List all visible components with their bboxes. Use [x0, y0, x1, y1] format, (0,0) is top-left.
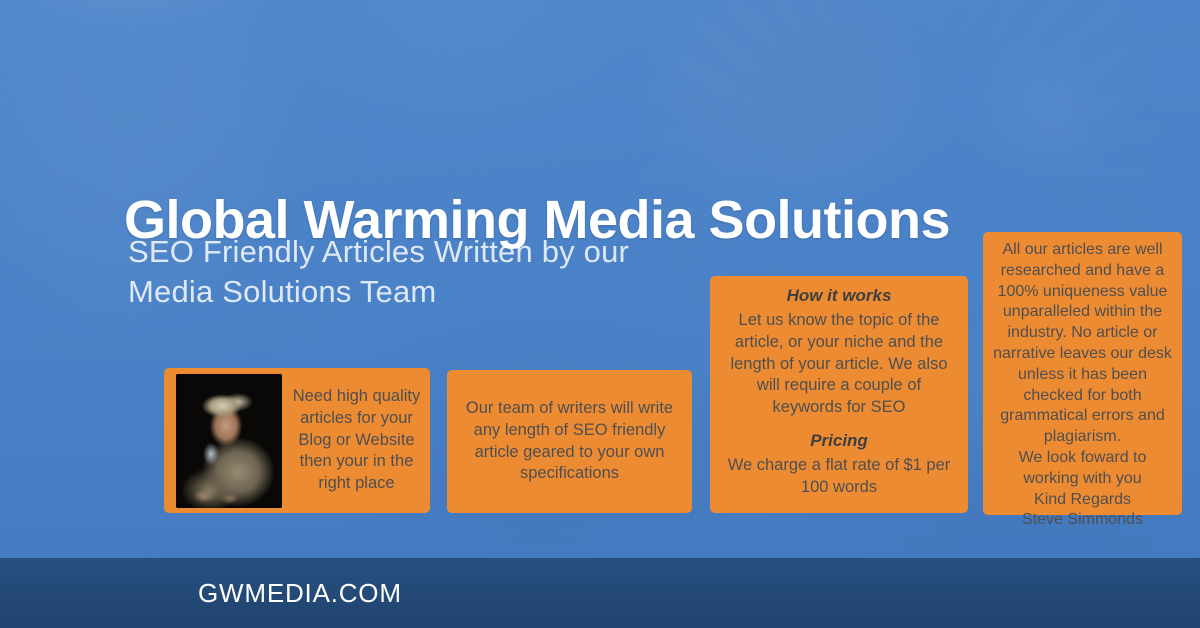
page-subtitle-line-1: SEO Friendly Articles Written by our	[128, 234, 629, 269]
card-quality-text-wrap: All our articles are well researched and…	[993, 240, 1172, 531]
how-it-works-block: How it works Let us know the topic of th…	[720, 286, 958, 419]
card-quality-closing-2: working with you	[993, 469, 1172, 490]
card-quality-signature: Steve Simmonds	[993, 510, 1172, 531]
how-it-works-body: Let us know the topic of the article, or…	[720, 310, 958, 419]
card-quality-statement: All our articles are well researched and…	[983, 232, 1182, 515]
how-it-works-heading: How it works	[720, 286, 958, 306]
page-subtitle-line-2: Media Solutions Team	[128, 272, 748, 312]
card-quality-closing-1: We look foward to	[993, 448, 1172, 469]
card-how-it-works: How it works Let us know the topic of th…	[710, 276, 968, 513]
page-subtitle: SEO Friendly Articles Written by our Med…	[128, 232, 748, 311]
portrait-photo	[176, 374, 282, 508]
pricing-block: Pricing We charge a flat rate of $1 per …	[720, 421, 958, 499]
footer-website-label: GWMEDIA.COM	[198, 578, 402, 609]
card-writers-text: Our team of writers will write any lengt…	[459, 398, 680, 485]
card-profile-text-wrap: Need high quality articles for your Blog…	[282, 386, 422, 495]
card-quality-closing-3: Kind Regards	[993, 490, 1172, 511]
footer-bar: GWMEDIA.COM	[0, 558, 1200, 628]
card-writers: Our team of writers will write any lengt…	[447, 370, 692, 513]
poster-banner: Global Warming Media Solutions SEO Frien…	[0, 0, 1200, 628]
card-profile-text: Need high quality articles for your Blog…	[291, 386, 422, 495]
portrait-image	[176, 374, 282, 508]
card-profile: Need high quality articles for your Blog…	[164, 368, 430, 513]
card-quality-body: All our articles are well researched and…	[993, 240, 1172, 448]
pricing-body: We charge a flat rate of $1 per 100 word…	[720, 455, 958, 499]
pricing-heading: Pricing	[720, 431, 958, 451]
